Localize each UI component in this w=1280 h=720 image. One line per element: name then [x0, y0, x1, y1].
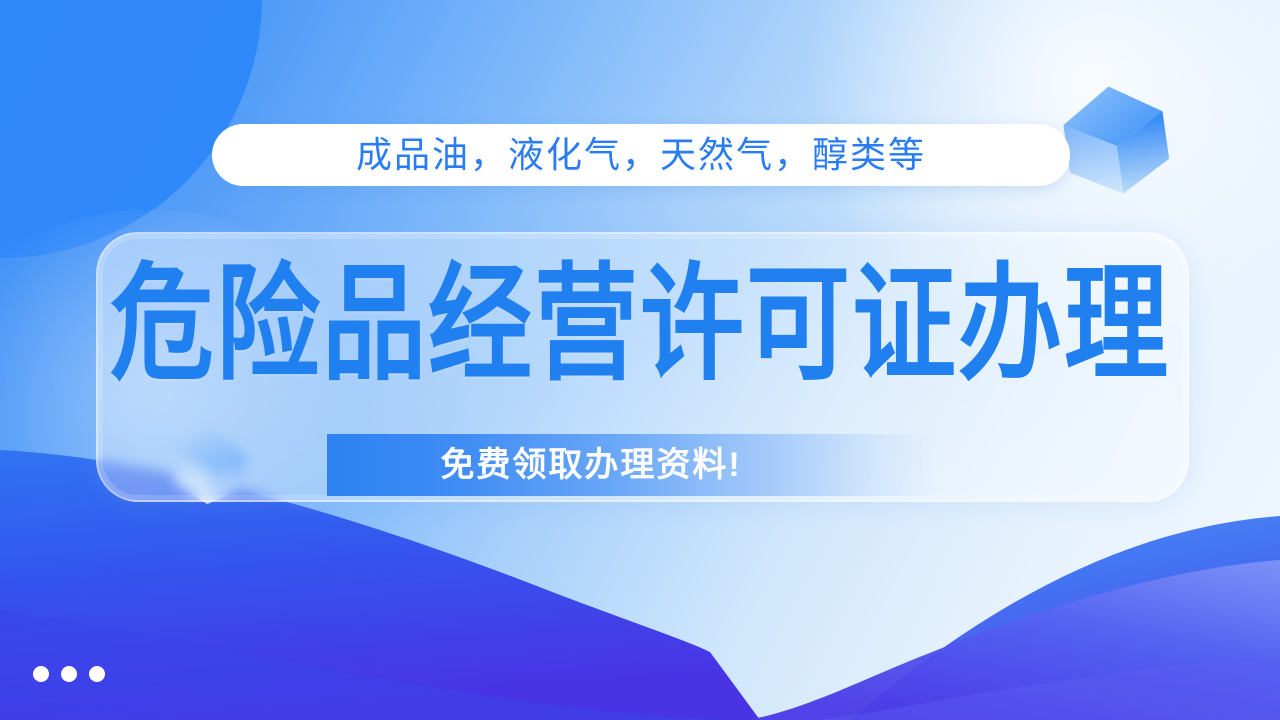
dot-indicator	[33, 666, 49, 682]
dot-indicator	[61, 666, 77, 682]
dot-indicators	[33, 666, 105, 682]
cta-banner[interactable]: 免费领取办理资料!	[327, 434, 935, 496]
cta-banner-text: 免费领取办理资料!	[327, 448, 935, 482]
page-title: 危险品经营许可证办理	[0, 262, 1280, 389]
dot-indicator	[89, 666, 105, 682]
tagline-text: 成品油，液化气，天然气，醇类等	[356, 137, 926, 173]
poster-canvas: 成品油，液化气，天然气，醇类等 危险品经营许可证办理 免费领取办理资料!	[0, 0, 1280, 720]
tagline-pill: 成品油，液化气，天然气，醇类等	[212, 124, 1070, 186]
3d-cube-icon	[1057, 77, 1176, 202]
